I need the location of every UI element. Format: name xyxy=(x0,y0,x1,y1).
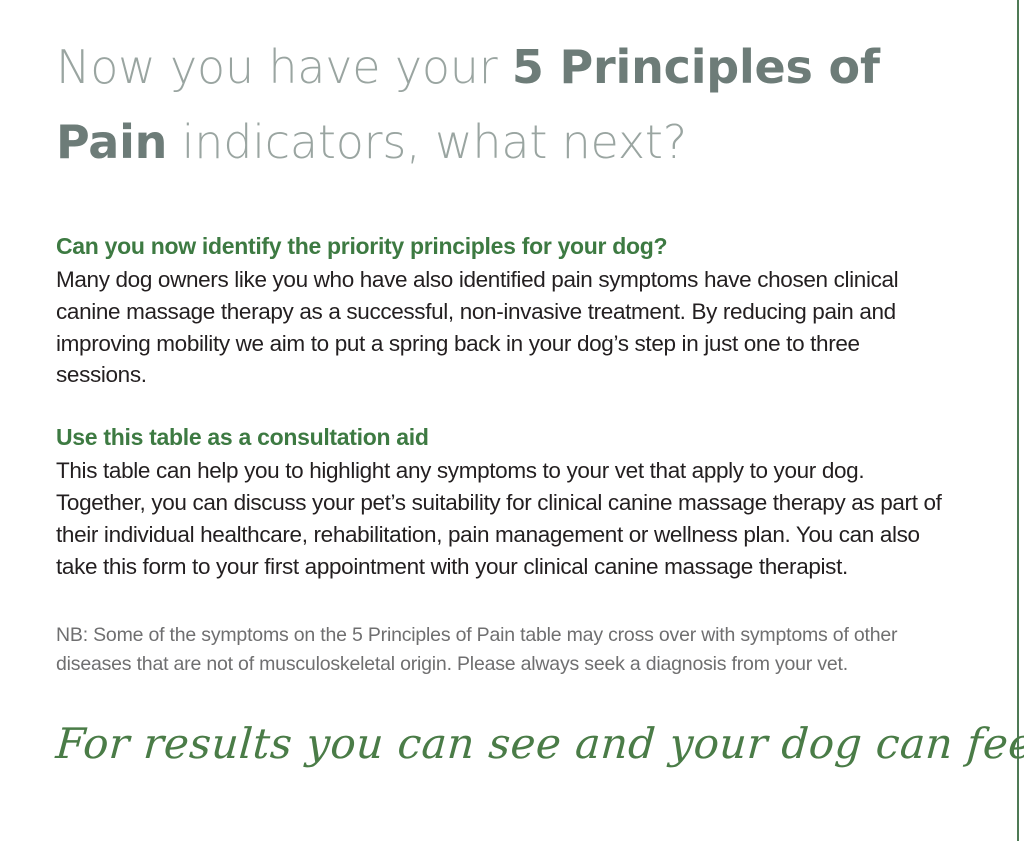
document-content: Now you have your 5 Principles of Pain i… xyxy=(56,30,956,767)
page-title-lead: Now you have your xyxy=(56,40,512,94)
page-title-trail: indicators, what next? xyxy=(167,115,687,169)
section-paragraph-priority-principles: Many dog owners like you who have also i… xyxy=(56,264,936,391)
section-paragraph-consultation-aid: This table can help you to highlight any… xyxy=(56,455,951,582)
section-priority-principles: Can you now identify the priority princi… xyxy=(56,231,956,391)
section-heading-consultation-aid: Use this table as a consultation aid xyxy=(56,422,956,453)
section-consultation-aid: Use this table as a consultation aid Thi… xyxy=(56,422,956,582)
document-page: Now you have your 5 Principles of Pain i… xyxy=(0,0,1024,841)
section-heading-priority-principles: Can you now identify the priority princi… xyxy=(56,231,956,262)
disclaimer-note: NB: Some of the symptoms on the 5 Princi… xyxy=(56,621,956,679)
page-title: Now you have your 5 Principles of Pain i… xyxy=(56,30,936,179)
brand-strapline: For results you can see and your dog can… xyxy=(54,721,957,767)
page-edge-rule xyxy=(1017,0,1019,841)
